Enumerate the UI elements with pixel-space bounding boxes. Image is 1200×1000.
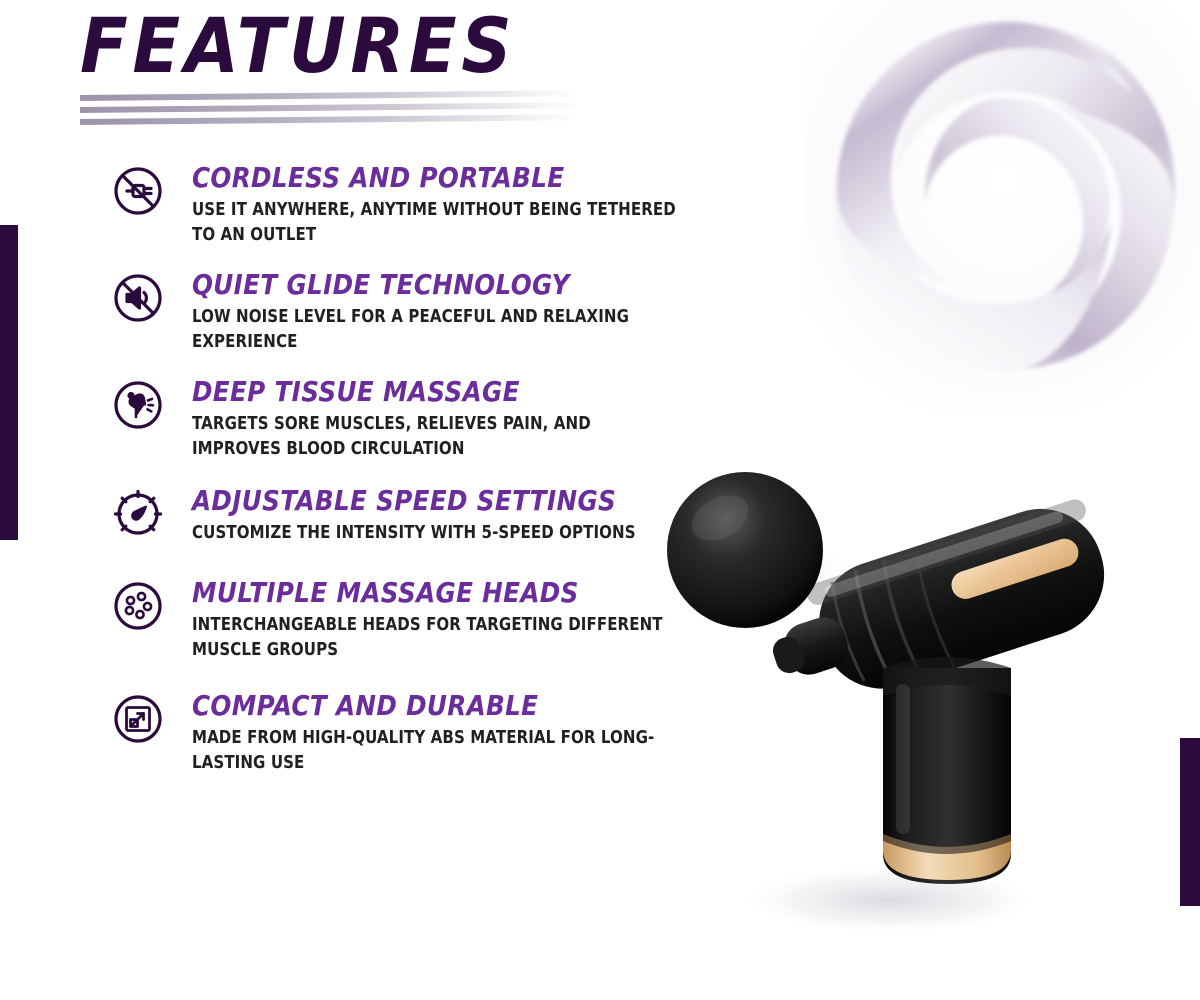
feature-title: COMPACT AND DURABLE <box>192 691 621 721</box>
muscle-impact-icon <box>110 377 166 433</box>
header: FEATURES <box>80 8 700 84</box>
feature-body: ADJUSTABLE SPEED SETTINGS CUSTOMIZE THE … <box>110 486 680 546</box>
compact-resize-icon <box>110 691 166 747</box>
no-plug-icon <box>110 163 166 219</box>
title-underline-rules <box>80 94 580 136</box>
feature-item-quiet-glide: QUIET GLIDE TECHNOLOGY LOW NOISE LEVEL F… <box>110 270 680 355</box>
page-title: FEATURES <box>80 8 650 84</box>
feature-description: MADE FROM HIGH-QUALITY ABS MATERIAL FOR … <box>192 726 679 776</box>
feature-title: CORDLESS AND PORTABLE <box>192 163 621 193</box>
feature-body: COMPACT AND DURABLE MADE FROM HIGH-QUALI… <box>110 691 680 776</box>
feature-description: INTERCHANGEABLE HEADS FOR TARGETING DIFF… <box>192 613 679 663</box>
feature-body: DEEP TISSUE MASSAGE TARGETS SORE MUSCLES… <box>110 377 680 462</box>
muted-speaker-icon <box>110 270 166 326</box>
right-accent-bar <box>1180 738 1200 906</box>
feature-item-deep-tissue: DEEP TISSUE MASSAGE TARGETS SORE MUSCLES… <box>110 377 680 462</box>
feature-title: QUIET GLIDE TECHNOLOGY <box>192 270 621 300</box>
massage-gun-product-image <box>640 430 1170 950</box>
feature-list: CORDLESS AND PORTABLE USE IT ANYWHERE, A… <box>110 163 680 776</box>
features-infographic: FEATURES <box>0 0 1200 1000</box>
feature-description: CUSTOMIZE THE INTENSITY WITH 5-SPEED OPT… <box>192 521 679 546</box>
feature-title: MULTIPLE MASSAGE HEADS <box>192 578 621 608</box>
massage-heads-icon <box>110 578 166 634</box>
speedometer-icon <box>110 486 166 542</box>
feature-body: QUIET GLIDE TECHNOLOGY LOW NOISE LEVEL F… <box>110 270 680 355</box>
feature-item-massage-heads: MULTIPLE MASSAGE HEADS INTERCHANGEABLE H… <box>110 578 680 663</box>
feature-description: TARGETS SORE MUSCLES, RELIEVES PAIN, AND… <box>192 412 679 462</box>
feature-description: USE IT ANYWHERE, ANYTIME WITHOUT BEING T… <box>192 198 679 248</box>
title-rule-3 <box>80 114 580 125</box>
title-rule-2 <box>80 102 580 113</box>
feature-title: DEEP TISSUE MASSAGE <box>192 377 621 407</box>
lavender-ribbon-swirl <box>805 0 1200 410</box>
feature-item-cordless: CORDLESS AND PORTABLE USE IT ANYWHERE, A… <box>110 163 680 248</box>
feature-body: CORDLESS AND PORTABLE USE IT ANYWHERE, A… <box>110 163 680 248</box>
title-rule-1 <box>80 90 580 101</box>
feature-title: ADJUSTABLE SPEED SETTINGS <box>192 486 621 516</box>
feature-body: MULTIPLE MASSAGE HEADS INTERCHANGEABLE H… <box>110 578 680 663</box>
feature-item-compact-durable: COMPACT AND DURABLE MADE FROM HIGH-QUALI… <box>110 691 680 776</box>
feature-item-speed-settings: ADJUSTABLE SPEED SETTINGS CUSTOMIZE THE … <box>110 486 680 546</box>
left-accent-bar <box>0 225 18 540</box>
feature-description: LOW NOISE LEVEL FOR A PEACEFUL AND RELAX… <box>192 305 679 355</box>
